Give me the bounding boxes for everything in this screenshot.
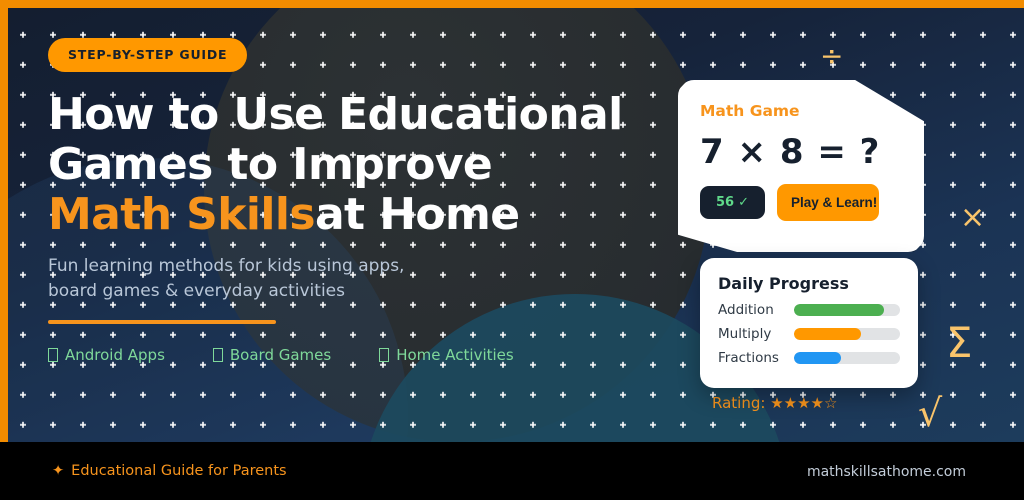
- progress-row-multiply: Multiply: [718, 326, 900, 342]
- hero-content: STEP-BY-STEP GUIDE How to Use Educationa…: [48, 38, 648, 364]
- feature-label: Android Apps: [65, 346, 165, 364]
- promo-banner: STEP-BY-STEP GUIDE How to Use Educationa…: [0, 0, 1024, 500]
- daily-progress-title: Daily Progress: [718, 274, 900, 293]
- progress-label: Multiply: [718, 326, 794, 342]
- progress-row-fractions: Fractions: [718, 350, 900, 366]
- headline-tail: at Home: [315, 189, 520, 240]
- progress-fill: [794, 352, 841, 364]
- feature-item-board-games: Board Games: [213, 346, 331, 364]
- progress-track: [794, 328, 900, 340]
- subheadline-line-1: Fun learning methods for kids using apps…: [48, 254, 648, 279]
- math-equation: 7 × 8 = ?: [700, 132, 902, 172]
- division-sign-icon: ÷: [820, 42, 843, 70]
- multiplication-sign-icon: ×: [960, 203, 985, 233]
- page-title: How to Use Educational Games to Improve …: [48, 90, 648, 240]
- subheadline-line-2: board games & everyday activities: [48, 279, 648, 304]
- missing-glyph-box-icon: [48, 348, 58, 362]
- math-game-card: Math Game 7 × 8 = ? 56✓ Play & Learn!: [678, 80, 924, 252]
- progress-row-addition: Addition: [718, 302, 900, 318]
- progress-label: Addition: [718, 302, 794, 318]
- feature-list: Android Apps Board Games Home Activities: [48, 346, 648, 364]
- footer-website: mathskillsathome.com: [807, 464, 966, 480]
- math-game-card-title: Math Game: [700, 102, 902, 120]
- feature-item-android-apps: Android Apps: [48, 346, 165, 364]
- progress-track: [794, 304, 900, 316]
- rating-row: Rating: ★★★★☆: [712, 394, 837, 412]
- headline-line-3: Math Skillsat Home: [48, 190, 648, 240]
- footer-tagline: ✦Educational Guide for Parents: [52, 463, 287, 479]
- headline-line-2: Games to Improve: [48, 140, 648, 190]
- feature-item-home-activities: Home Activities: [379, 346, 514, 364]
- daily-progress-card: Daily Progress Addition Multiply Fractio…: [700, 258, 918, 388]
- check-icon: ✓: [738, 195, 749, 210]
- square-root-icon: √: [918, 394, 942, 432]
- feature-label: Board Games: [230, 346, 331, 364]
- progress-fill: [794, 304, 884, 316]
- answer-chip: 56✓: [700, 186, 765, 219]
- subheadline: Fun learning methods for kids using apps…: [48, 254, 648, 304]
- footer-bar: ✦Educational Guide for Parents mathskill…: [0, 442, 1024, 500]
- headline-line-1: How to Use Educational: [48, 90, 648, 140]
- missing-glyph-box-icon: [213, 348, 223, 362]
- accent-divider: [48, 320, 276, 324]
- footer-tagline-text: Educational Guide for Parents: [71, 463, 286, 479]
- rating-label: Rating:: [712, 394, 765, 412]
- progress-label: Fractions: [718, 350, 794, 366]
- answer-value: 56: [716, 195, 734, 210]
- summation-sigma-icon: Σ: [946, 322, 973, 364]
- feature-label: Home Activities: [396, 346, 514, 364]
- rating-stars: ★★★★☆: [770, 394, 837, 412]
- progress-track: [794, 352, 900, 364]
- headline-accent: Math Skills: [48, 189, 315, 240]
- left-accent-border: [0, 0, 8, 442]
- play-and-learn-button[interactable]: Play & Learn!: [777, 184, 879, 221]
- guide-badge: STEP-BY-STEP GUIDE: [48, 38, 247, 72]
- top-accent-border: [0, 0, 1024, 8]
- missing-glyph-box-icon: [379, 348, 389, 362]
- progress-fill: [794, 328, 861, 340]
- sparkle-icon: ✦: [52, 463, 64, 479]
